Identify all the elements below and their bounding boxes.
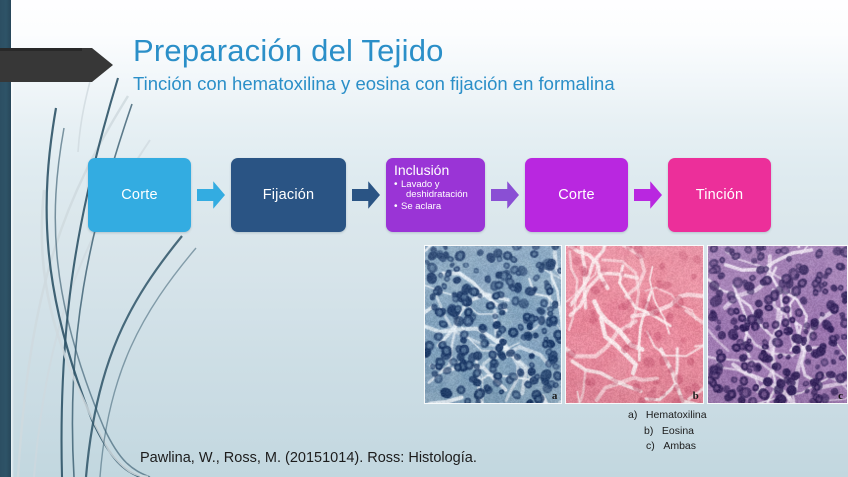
panel-label: c (838, 391, 843, 402)
micrograph-legend: a) Hematoxilina b) Eosina c) Ambas (628, 408, 707, 455)
micrograph-image (425, 246, 561, 403)
list-item: c) Ambas (646, 439, 707, 455)
micrograph-panel-c: c (707, 245, 848, 404)
title-banner-highlight (0, 48, 82, 51)
bullet-line-2: deshidratación (401, 190, 468, 201)
arrow-right-icon (352, 180, 380, 210)
legend-label: Ambas (663, 440, 696, 452)
legend-label: Hematoxilina (646, 409, 707, 421)
legend-key: a) (628, 408, 643, 424)
process-step-label: Corte (121, 187, 157, 203)
inclusion-bullet-list: Lavado y deshidratación Se aclara (394, 180, 468, 214)
process-step-label: Corte (558, 187, 594, 203)
micrograph-image (708, 246, 847, 403)
page-title: Preparación del Tejido (133, 34, 733, 68)
micrograph-panel-b: b (565, 245, 703, 404)
process-step-inclusion[interactable]: Inclusión Lavado y deshidratación Se acl… (386, 158, 485, 232)
process-step-label: Fijación (263, 187, 315, 203)
list-item: b) Eosina (644, 424, 707, 440)
list-item: Lavado y deshidratación (394, 180, 468, 201)
bullet-line-1: Se aclara (401, 201, 441, 212)
process-step-corte-2[interactable]: Corte (525, 158, 628, 232)
process-step-corte-1[interactable]: Corte (88, 158, 191, 232)
slide-canvas: Preparación del Tejido Tinción con hemat… (0, 0, 848, 477)
citation-text: Pawlina, W., Ross, M. (20151014). Ross: … (140, 450, 477, 466)
title-block: Preparación del Tejido Tinción con hemat… (133, 34, 733, 97)
bullet-line-1: Lavado y (401, 179, 440, 190)
arrow-right-icon (491, 180, 519, 210)
micrograph-image (566, 246, 702, 403)
process-step-label: Tinción (696, 187, 744, 203)
process-step-label: Inclusión (394, 163, 449, 178)
legend-key: c) (646, 439, 661, 455)
legend-key: b) (644, 424, 659, 440)
arrow-right-icon (197, 180, 225, 210)
arrow-right-icon (634, 180, 662, 210)
process-step-fijacion[interactable]: Fijación (231, 158, 346, 232)
list-item: a) Hematoxilina (628, 408, 707, 424)
micrograph-row: a b c (424, 245, 848, 404)
page-subtitle: Tinción con hematoxilina y eosina con fi… (133, 72, 693, 97)
process-flow: Corte Fijación Inclusión Lavado y deshid… (88, 158, 771, 232)
title-banner-arrow (0, 48, 113, 82)
panel-label: a (552, 391, 558, 402)
micrograph-panel-a: a (424, 245, 562, 404)
list-item: Se aclara (394, 202, 468, 213)
panel-label: b (693, 391, 699, 402)
process-step-tincion[interactable]: Tinción (668, 158, 771, 232)
legend-label: Eosina (662, 425, 694, 437)
